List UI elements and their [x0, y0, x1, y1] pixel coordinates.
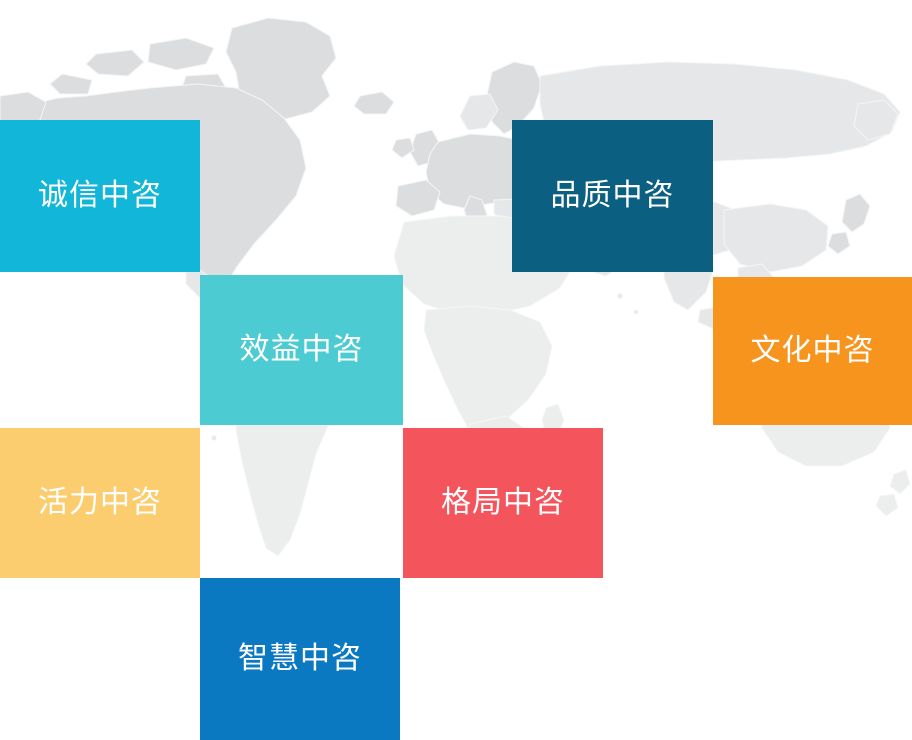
tile-label-benefit: 效益中咨	[240, 335, 364, 365]
tile-label-quality: 品质中咨	[551, 181, 675, 211]
tile-wisdom[interactable]: 智慧中咨	[200, 578, 400, 740]
tile-culture[interactable]: 文化中咨	[713, 277, 912, 425]
tile-pattern[interactable]: 格局中咨	[403, 428, 603, 578]
tile-benefit[interactable]: 效益中咨	[200, 275, 403, 425]
tile-label-vitality: 活力中咨	[38, 488, 162, 518]
tile-label-pattern: 格局中咨	[441, 488, 565, 518]
tile-quality[interactable]: 品质中咨	[512, 120, 713, 272]
tile-integrity[interactable]: 诚信中咨	[0, 120, 200, 272]
tile-label-integrity: 诚信中咨	[38, 181, 162, 211]
tile-label-wisdom: 智慧中咨	[238, 644, 362, 674]
tile-label-culture: 文化中咨	[751, 336, 875, 366]
tile-vitality[interactable]: 活力中咨	[0, 428, 200, 578]
slide-canvas: 诚信中咨品质中咨效益中咨文化中咨活力中咨格局中咨智慧中咨	[0, 0, 912, 740]
